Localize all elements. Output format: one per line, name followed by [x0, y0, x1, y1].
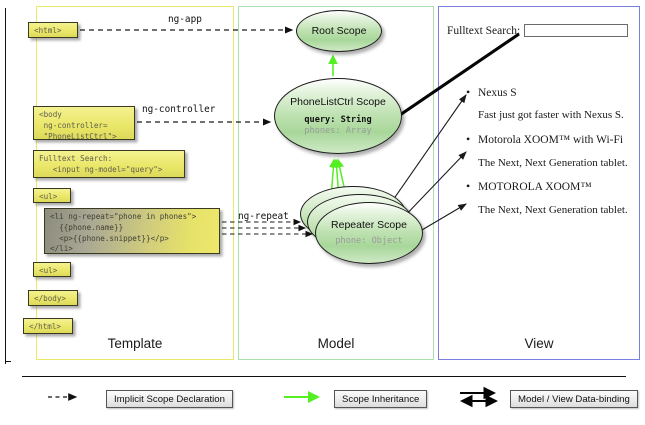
scope-phonelistctrl: PhoneListCtrl Scope query: String phones… [274, 78, 402, 154]
scope-prop-phones: phones: Array [304, 126, 371, 137]
view-search-row: Fulltext Search: [447, 24, 628, 37]
legend-item-binding: Model / View Data-binding [458, 390, 638, 408]
panel-title-template: Template [37, 336, 233, 351]
legend-item-implicit: Implicit Scope Declaration [46, 390, 233, 408]
legend-glyph-slot-binding [458, 392, 510, 406]
page-left-rule [5, 8, 6, 364]
scope-phonelistctrl-label: PhoneListCtrl Scope [290, 96, 386, 108]
scope-repeater: Repeater Scope phone: Object [315, 202, 423, 264]
panel-template: Template [36, 6, 234, 360]
view-search-label: Fulltext Search: [447, 25, 520, 37]
phone-name: MOTOROLA XOOM™ [464, 180, 634, 194]
legend-divider [22, 376, 626, 377]
scope-root-label: Root Scope [312, 25, 367, 37]
view-content: Fulltext Search: Nexus S Fast just got f… [442, 10, 636, 356]
legend-label-binding: Model / View Data-binding [510, 390, 638, 408]
scope-prop-query: query: String [304, 115, 371, 126]
legend-glyph-slot-implicit [46, 392, 106, 406]
code-box-html-close: </html> [23, 318, 73, 334]
view-phone-list: Nexus S Fast just got faster with Nexus … [464, 86, 634, 227]
page-left-rule-foot [5, 361, 11, 362]
edge-label-ng-controller: ng-controller [142, 104, 215, 115]
view-search-input[interactable] [524, 24, 628, 37]
legend-label-implicit: Implicit Scope Declaration [106, 390, 233, 408]
phone-snippet: The Next, Next Generation tablet. [464, 204, 634, 218]
edge-label-ng-repeat: ng-repeat [238, 211, 289, 222]
code-box-li-repeat: <li ng-repeat="phone in phones"> {{phone… [44, 208, 220, 254]
panel-title-model: Model [239, 336, 433, 351]
phone-name: Nexus S [464, 86, 634, 100]
phone-snippet: Fast just got faster with Nexus S. [464, 109, 634, 123]
phone-name: Motorola XOOM™ with Wi-Fi [464, 133, 634, 147]
diagram-canvas: Template Model View [0, 0, 645, 425]
code-box-html-open: <html> [28, 22, 78, 38]
legend-item-inheritance: Scope Inheritance [282, 390, 427, 408]
scope-root: Root Scope [296, 10, 382, 52]
scope-repeater-label: Repeater Scope [331, 219, 407, 231]
code-box-body-tag: <body ng-controller= "PhoneListCtrl"> [33, 106, 135, 140]
list-item: Motorola XOOM™ with Wi-Fi The Next, Next… [464, 133, 634, 170]
panel-model: Model [238, 6, 434, 360]
list-item: Nexus S Fast just got faster with Nexus … [464, 86, 634, 123]
list-item: MOTOROLA XOOM™ The Next, Next Generation… [464, 180, 634, 217]
scope-prop-phone: phone: Object [335, 236, 402, 247]
code-box-ul-open: <ul> [33, 188, 71, 203]
legend-glyph-slot-inheritance [282, 392, 334, 406]
code-box-search-input: Fulltext Search: <input ng-model="query"… [33, 150, 185, 178]
edge-label-ng-app: ng-app [168, 14, 202, 25]
legend-label-inheritance: Scope Inheritance [334, 390, 427, 408]
code-box-body-close: </body> [28, 290, 78, 306]
code-box-ul-close: <ul> [33, 262, 71, 277]
phone-snippet: The Next, Next Generation tablet. [464, 157, 634, 171]
